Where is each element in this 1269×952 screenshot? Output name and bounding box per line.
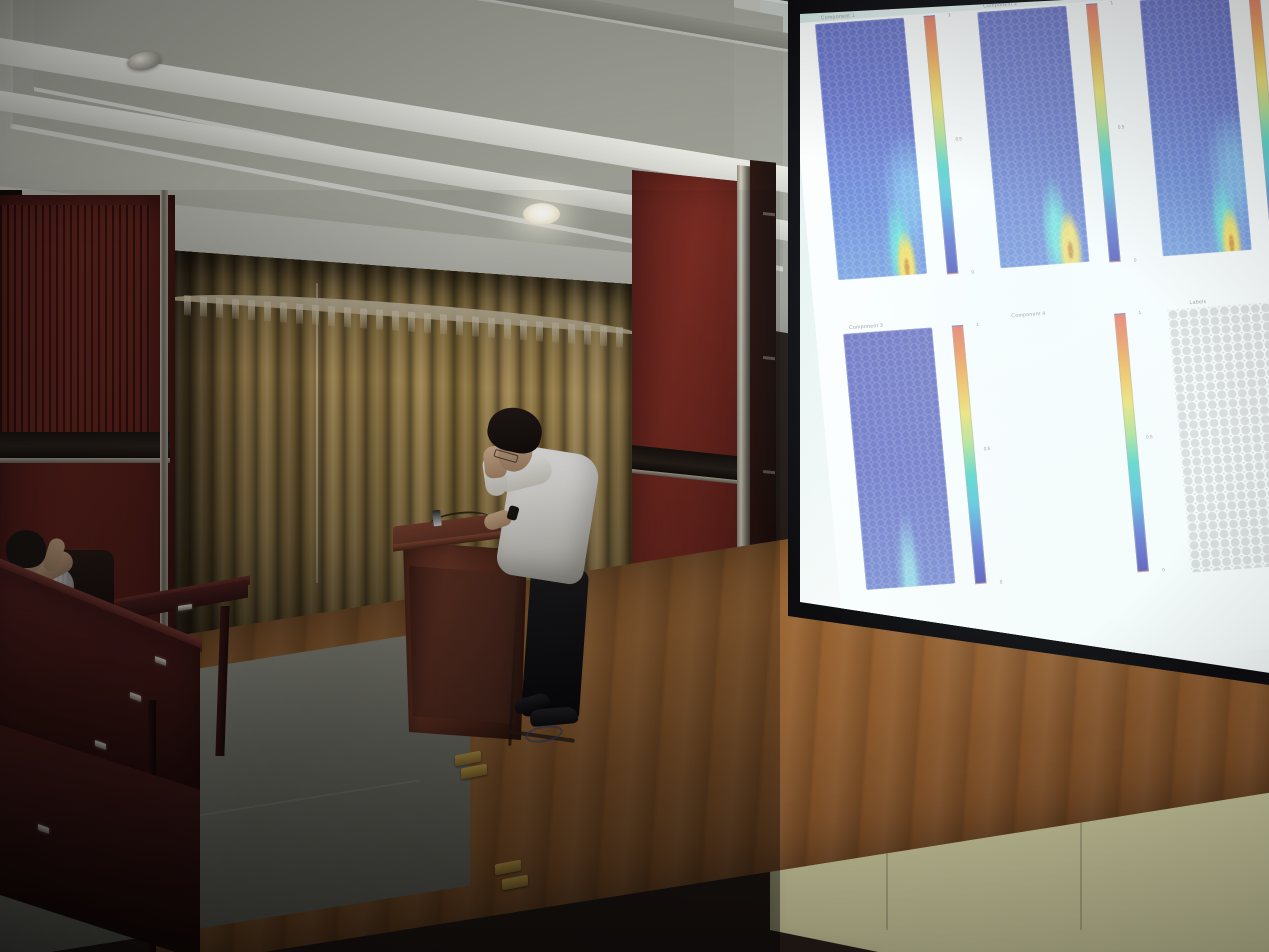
som-hex-heatmap bbox=[843, 327, 955, 590]
colorbar: 1 0.5 0 bbox=[1086, 3, 1121, 263]
colorbar: 1 0.5 0 bbox=[924, 15, 959, 275]
som-panel-title: Labels bbox=[1189, 299, 1207, 306]
colorbar-tick-min: 0 bbox=[1134, 258, 1137, 263]
wood-slat-texture bbox=[0, 205, 150, 435]
som-panel: Component 1 1 0.5 0 bbox=[802, 5, 988, 322]
som-panel: Component 4 1 0.5 0 bbox=[992, 303, 1178, 620]
colorbar: 1 0.5 0 bbox=[1114, 313, 1149, 573]
presenter bbox=[478, 408, 618, 748]
colorbar-tick-mid: 0.5 bbox=[955, 136, 962, 142]
presenter-shoe bbox=[529, 706, 578, 727]
colorbar-tick-min: 0 bbox=[971, 270, 974, 275]
wall-accent-band bbox=[0, 432, 170, 458]
colorbar-tick-max: 1 bbox=[1138, 310, 1141, 315]
projection-screen[interactable]: 计算道路的4个参量，将其作为4维空间的向量输入 Component 1 1 0.… bbox=[770, 0, 1269, 728]
som-panel: Component 3 1 0.5 0 bbox=[830, 315, 1016, 632]
som-panel-title: Component 4 bbox=[1011, 311, 1046, 320]
colorbar-tick-mid: 0.5 bbox=[1118, 124, 1125, 130]
wall-accent-band-edge bbox=[0, 458, 170, 463]
colorbar-tick-mid: 0.5 bbox=[983, 445, 990, 451]
colorbar-tick-max: 1 bbox=[1110, 0, 1113, 5]
som-label-hex-grid bbox=[1168, 302, 1269, 573]
room-photo: 计算道路的4个参量，将其作为4维空间的向量输入 Component 1 1 0.… bbox=[0, 0, 1269, 952]
som-panel-title: Component 3 bbox=[849, 323, 884, 332]
som-hex-heatmap bbox=[977, 6, 1089, 269]
slide: 计算道路的4个参量，将其作为4维空间的向量输入 Component 1 1 0.… bbox=[770, 0, 1269, 706]
som-panel: Degree 152 75.9 0 bbox=[1126, 0, 1269, 298]
ceiling-downlight-icon bbox=[523, 203, 560, 225]
som-panel-title: Component 1 bbox=[821, 13, 856, 22]
colorbar-tick-max: 1 bbox=[948, 12, 951, 17]
colorbar-tick-min: 0 bbox=[1162, 568, 1165, 573]
water-bottle-icon bbox=[432, 510, 442, 527]
som-panel: Component 2 1 0.5 0 bbox=[964, 0, 1150, 310]
som-panel-grid: Component 1 1 0.5 0 Component 2 1 bbox=[802, 0, 1269, 632]
som-hex-heatmap bbox=[1005, 315, 1117, 578]
colorbar-tick-mid: 0.5 bbox=[1146, 434, 1153, 440]
som-hex-heatmap bbox=[815, 17, 927, 280]
som-hex-heatmap bbox=[1140, 0, 1252, 257]
colorbar: 152 75.9 0 bbox=[1248, 0, 1269, 251]
colorbar-tick-min: 0 bbox=[1000, 579, 1003, 584]
colorbar: 1 0.5 0 bbox=[952, 325, 987, 585]
colorbar-tick-max: 1 bbox=[976, 322, 979, 327]
glasses-icon bbox=[22, 550, 43, 558]
